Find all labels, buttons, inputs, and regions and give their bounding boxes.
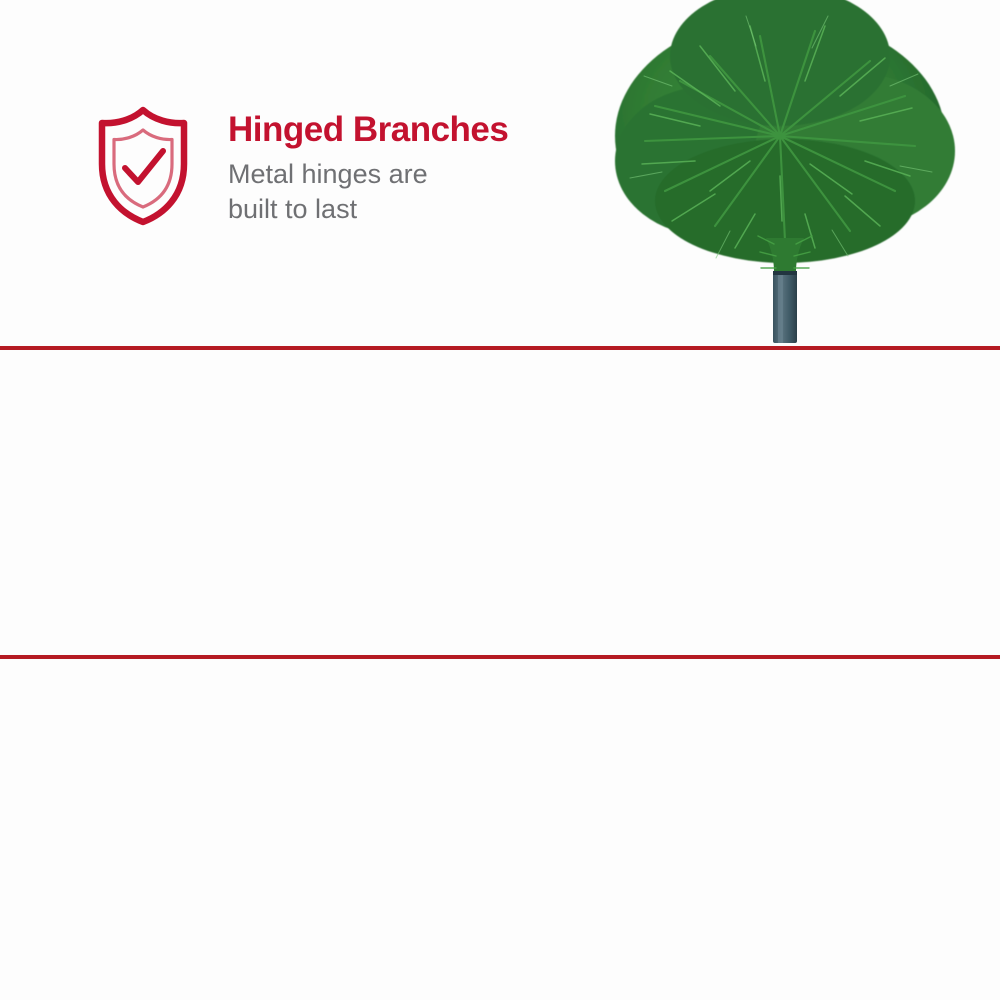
shield-check-icon <box>92 104 194 228</box>
christmas-tree-branches-photo <box>560 0 1000 346</box>
feature-panel-pvc-tips: PVC Tips Flame-retardant and easy to flu… <box>0 350 1000 655</box>
feature-heading-hinged-branches: Hinged Branches <box>228 112 508 147</box>
infographic-page: Hinged Branches Metal hinges are built t… <box>0 0 1000 1000</box>
feature-description-hinged-branches: Metal hinges are built to last <box>228 157 508 226</box>
feature-panel-sturdy-base: Sturdy Base A reliable metal stand for y… <box>0 659 1000 1000</box>
feature-panel-hinged-branches: Hinged Branches Metal hinges are built t… <box>0 0 1000 346</box>
feature-text-hinged-branches: Hinged Branches Metal hinges are built t… <box>228 112 508 226</box>
